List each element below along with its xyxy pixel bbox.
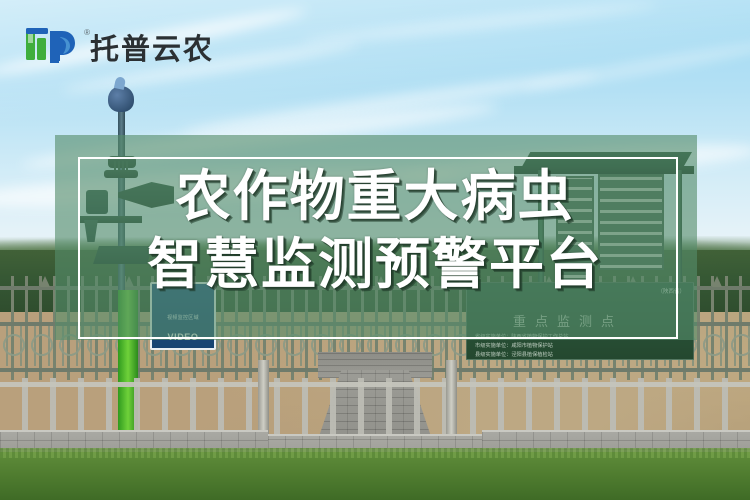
sign-line-2: 市级实施单位：咸阳市植物保护站 bbox=[475, 342, 553, 349]
sign-line-3: 县级实施单位：泾阳县植保植检站 bbox=[475, 351, 553, 358]
hero-banner: 视频监控区域 VIDEO （陕西省） 重点监测点 省级实施单位：陕西省植物保护工… bbox=[0, 0, 750, 500]
title-line-2: 智慧监测预警平台 bbox=[0, 234, 750, 296]
title-line-1: 农作物重大病虫 bbox=[0, 166, 750, 228]
brand-logo[interactable]: ® 托普云农 bbox=[26, 26, 214, 68]
fence-rail bbox=[0, 382, 750, 387]
page-title: 农作物重大病虫 智慧监测预警平台 bbox=[0, 166, 750, 295]
top-cloud-agri-logo-icon: ® bbox=[26, 28, 78, 66]
brand-name: 托普云农 bbox=[90, 26, 214, 68]
registered-mark: ® bbox=[84, 28, 90, 37]
cloud-wisp bbox=[521, 38, 750, 95]
surveillance-camera-icon bbox=[108, 86, 134, 112]
cloud-wisp bbox=[300, 0, 659, 47]
grass-foreground bbox=[0, 452, 750, 500]
